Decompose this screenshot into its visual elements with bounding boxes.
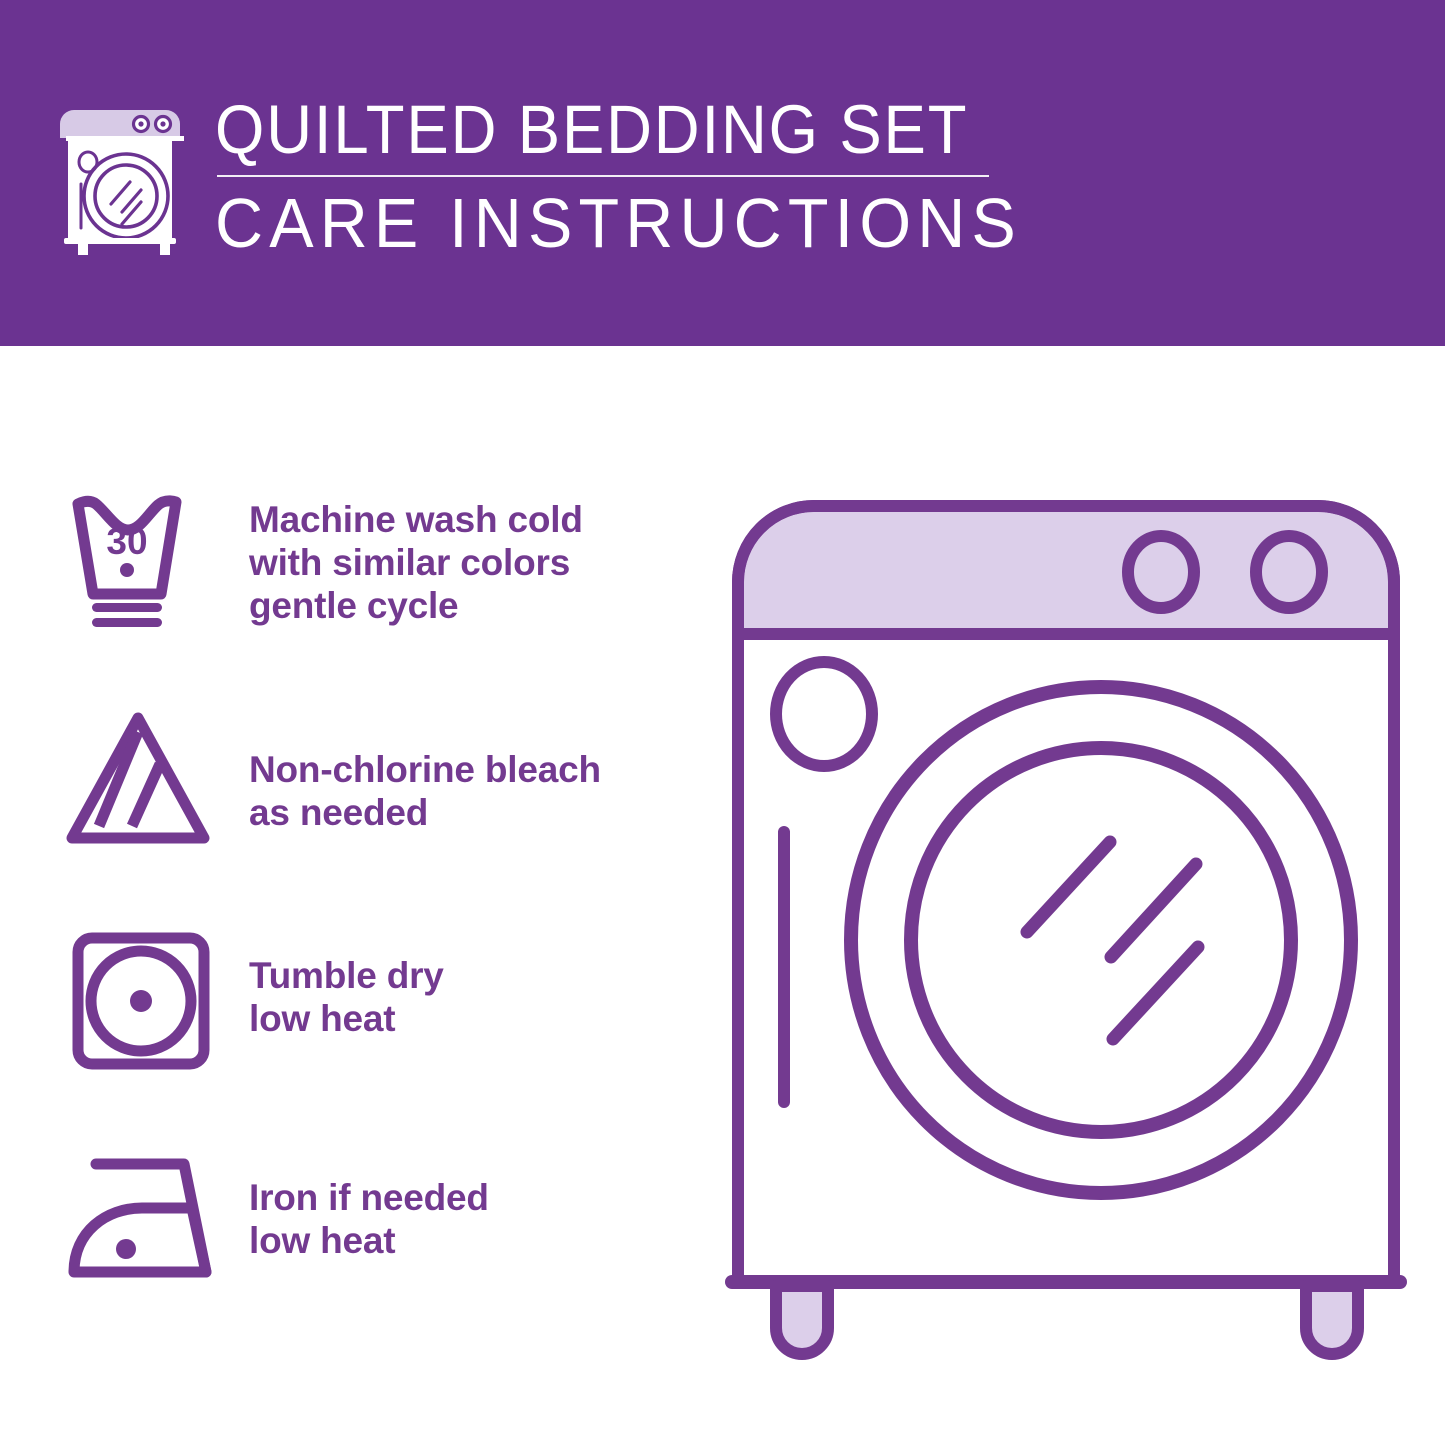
header-content: QUILTED BEDDING SET CARE INSTRUCTIONS [60, 92, 1020, 262]
leg-left [776, 1286, 828, 1354]
leg-right [1306, 1286, 1358, 1354]
washing-machine-illustration [706, 462, 1426, 1382]
care-instruction-list: 30 Machine wash cold with similar colors… [0, 346, 700, 1445]
care-label-bleach: Non-chlorine bleach as needed [231, 706, 601, 834]
care-row-iron: Iron if needed low heat [66, 1146, 686, 1296]
page-subtitle: CARE INSTRUCTIONS [215, 185, 985, 261]
header-band: QUILTED BEDDING SET CARE INSTRUCTIONS [0, 0, 1445, 346]
care-instructions-infographic: QUILTED BEDDING SET CARE INSTRUCTIONS 30 [0, 0, 1445, 1445]
iron-low-heat-icon [66, 1146, 231, 1296]
care-row-bleach: Non-chlorine bleach as needed [66, 706, 686, 856]
non-chlorine-bleach-triangle-icon [66, 706, 231, 856]
control-panel [744, 512, 1388, 632]
care-row-dry: Tumble dry low heat [66, 926, 686, 1076]
header-title-block: QUILTED BEDDING SET CARE INSTRUCTIONS [215, 92, 1025, 261]
care-label-wash: Machine wash cold with similar colors ge… [231, 482, 583, 627]
page-title: QUILTED BEDDING SET [215, 92, 960, 168]
care-row-wash: 30 Machine wash cold with similar colors… [66, 482, 686, 632]
care-label-dry: Tumble dry low heat [231, 926, 444, 1040]
machine-wash-tub-icon: 30 [66, 482, 231, 632]
care-label-iron: Iron if needed low heat [231, 1146, 489, 1262]
wash-temperature-value: 30 [106, 521, 147, 562]
tumble-dry-square-icon [66, 926, 231, 1076]
title-divider [217, 175, 989, 177]
washing-machine-icon [60, 100, 190, 255]
